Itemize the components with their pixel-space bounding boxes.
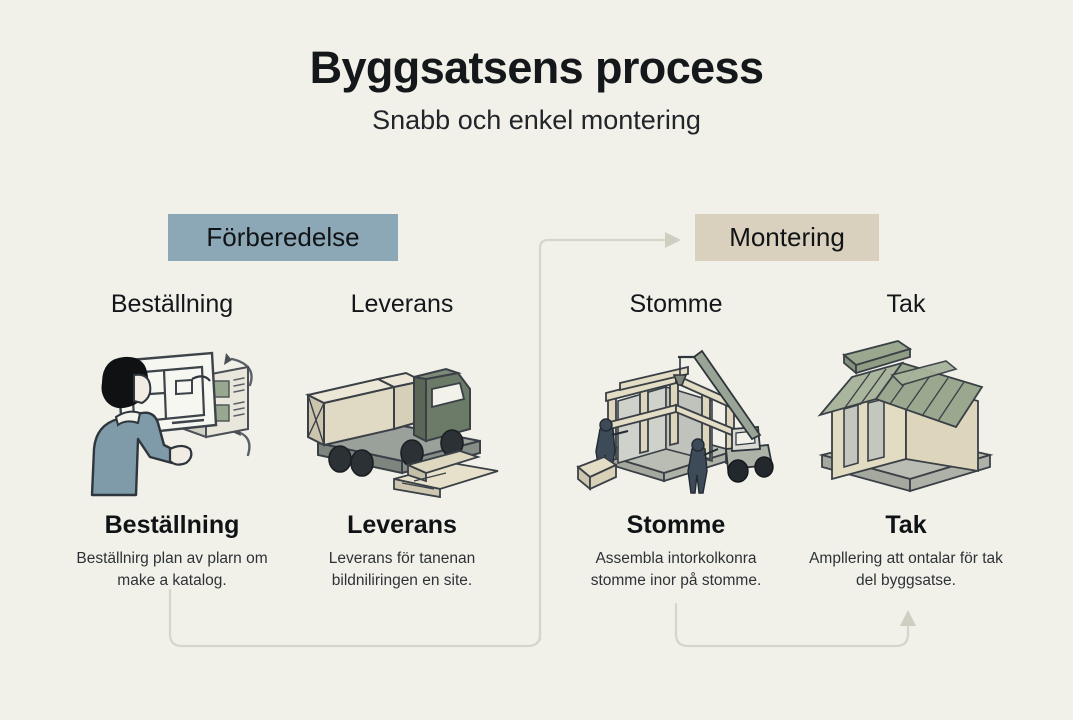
- house-roof-illustration: [806, 331, 1006, 499]
- step-order-caption: Beställnirg plan av plarn om make a kata…: [65, 548, 280, 592]
- diagram-header: Byggsatsens process Snabb och enkel mont…: [0, 44, 1073, 136]
- person-with-floorplan-illustration: [72, 331, 272, 499]
- arrowhead-right-icon: [665, 232, 681, 248]
- step-delivery: Leverans: [286, 292, 518, 592]
- delivery-truck-illustration: [302, 331, 502, 499]
- step-order-top-title: Beställning: [111, 292, 233, 317]
- phase-band-assembly: Montering: [695, 214, 879, 261]
- step-roof: Tak: [790, 292, 1022, 592]
- phase-label-preparation: Förberedelse: [206, 222, 359, 253]
- phase-band-preparation: Förberedelse: [168, 214, 398, 261]
- step-roof-top-title: Tak: [887, 292, 926, 317]
- step-frame-caption: Assembla intorkolkonra stomme inor på st…: [569, 548, 784, 592]
- process-diagram: Byggsatsens process Snabb och enkel mont…: [0, 0, 1073, 720]
- step-delivery-top-title: Leverans: [351, 292, 454, 317]
- step-frame-top-title: Stomme: [629, 292, 722, 317]
- step-delivery-caption: Leverans för tanenan bildniliringen en s…: [295, 548, 510, 592]
- connector-frame-to-roof: [676, 604, 916, 646]
- phase-label-assembly: Montering: [729, 222, 845, 253]
- step-frame: Stomme: [560, 292, 792, 592]
- page-title: Byggsatsens process: [0, 44, 1073, 91]
- step-delivery-title: Leverans: [347, 513, 457, 538]
- step-order: Beställning: [56, 292, 288, 592]
- step-frame-title: Stomme: [627, 513, 726, 538]
- step-roof-title: Tak: [885, 513, 926, 538]
- connector-order-to-frame: [170, 590, 540, 646]
- arrowhead-up-icon: [900, 610, 916, 626]
- step-order-title: Beställning: [105, 513, 240, 538]
- page-subtitle: Snabb och enkel montering: [0, 106, 1073, 136]
- step-roof-caption: Ampllering att ontalar för tak del byggs…: [799, 548, 1014, 592]
- timber-frame-crane-illustration: [576, 331, 776, 499]
